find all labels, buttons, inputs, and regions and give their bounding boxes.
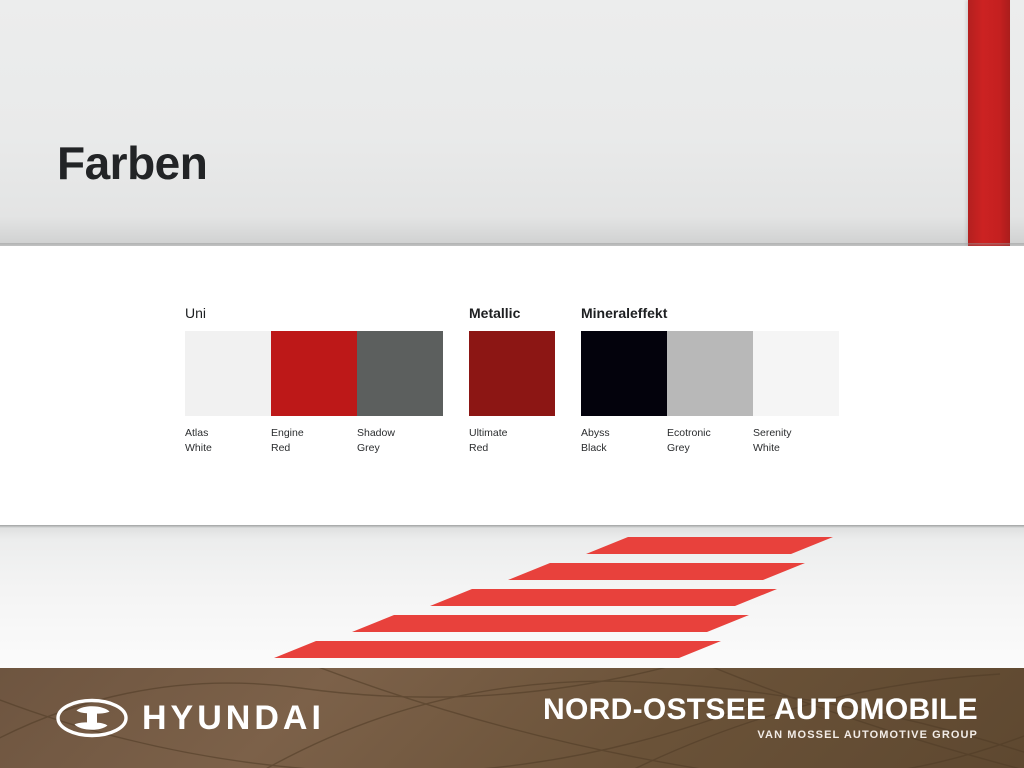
page-title: Farben	[57, 140, 207, 186]
stripe	[586, 537, 833, 554]
hyundai-wordmark: HYUNDAI	[142, 701, 325, 735]
hyundai-logo-icon	[56, 698, 128, 738]
swatch-cell[interactable]: Abyss Black	[581, 331, 667, 455]
hyundai-brand-lockup: HYUNDAI	[56, 698, 325, 738]
color-swatch[interactable]	[667, 331, 753, 416]
color-swatch-label: Atlas White	[185, 426, 271, 455]
swatch-cell[interactable]: Atlas White	[185, 331, 271, 455]
swatch-row: Ultimate Red	[469, 331, 555, 455]
swatch-row: Abyss BlackEcotronic GreySerenity White	[581, 331, 839, 455]
color-swatch-label: Ultimate Red	[469, 426, 555, 455]
color-swatch[interactable]	[357, 331, 443, 416]
dealer-subtitle: VAN MOSSEL AUTOMOTIVE GROUP	[543, 730, 978, 741]
color-swatch-label: Serenity White	[753, 426, 839, 455]
swatch-groups: UniAtlas WhiteEngine RedShadow GreyMetal…	[185, 306, 865, 455]
color-palette-section: UniAtlas WhiteEngine RedShadow GreyMetal…	[0, 246, 1024, 525]
swatch-row: Atlas WhiteEngine RedShadow Grey	[185, 331, 443, 455]
stripe	[430, 589, 777, 606]
swatch-cell[interactable]: Ultimate Red	[469, 331, 555, 455]
swatch-group: MetallicUltimate Red	[469, 306, 555, 455]
swatch-cell[interactable]: Serenity White	[753, 331, 839, 455]
swatch-group-title: Metallic	[469, 306, 555, 320]
dealer-brand-lockup: NORD-OSTSEE AUTOMOBILE VAN MOSSEL AUTOMO…	[543, 695, 978, 741]
graphic-band	[0, 525, 1024, 668]
swatch-cell[interactable]: Shadow Grey	[357, 331, 443, 455]
color-swatch-label: Engine Red	[271, 426, 357, 455]
diagonal-stripes-graphic	[0, 525, 1024, 668]
stripe	[508, 563, 805, 580]
dealer-name: NORD-OSTSEE AUTOMOBILE	[543, 695, 978, 725]
header-accent-bar	[968, 0, 1010, 246]
swatch-group: MineraleffektAbyss BlackEcotronic GreySe…	[581, 306, 839, 455]
slide-root: Farben UniAtlas WhiteEngine RedShadow Gr…	[0, 0, 1024, 768]
header-band: Farben	[0, 0, 1024, 246]
footer-content: HYUNDAI NORD-OSTSEE AUTOMOBILE VAN MOSSE…	[0, 668, 1024, 768]
color-swatch[interactable]	[469, 331, 555, 416]
color-swatch[interactable]	[581, 331, 667, 416]
stripe	[274, 641, 721, 658]
swatch-group-title: Uni	[185, 306, 443, 320]
color-swatch[interactable]	[753, 331, 839, 416]
swatch-cell[interactable]: Engine Red	[271, 331, 357, 455]
color-swatch-label: Abyss Black	[581, 426, 667, 455]
swatch-group: UniAtlas WhiteEngine RedShadow Grey	[185, 306, 443, 455]
color-swatch[interactable]	[271, 331, 357, 416]
swatch-cell[interactable]: Ecotronic Grey	[667, 331, 753, 455]
color-swatch-label: Ecotronic Grey	[667, 426, 753, 455]
color-swatch-label: Shadow Grey	[357, 426, 443, 455]
stripe	[352, 615, 749, 632]
footer-bar: HYUNDAI NORD-OSTSEE AUTOMOBILE VAN MOSSE…	[0, 668, 1024, 768]
swatch-group-title: Mineraleffekt	[581, 306, 839, 320]
color-swatch[interactable]	[185, 331, 271, 416]
